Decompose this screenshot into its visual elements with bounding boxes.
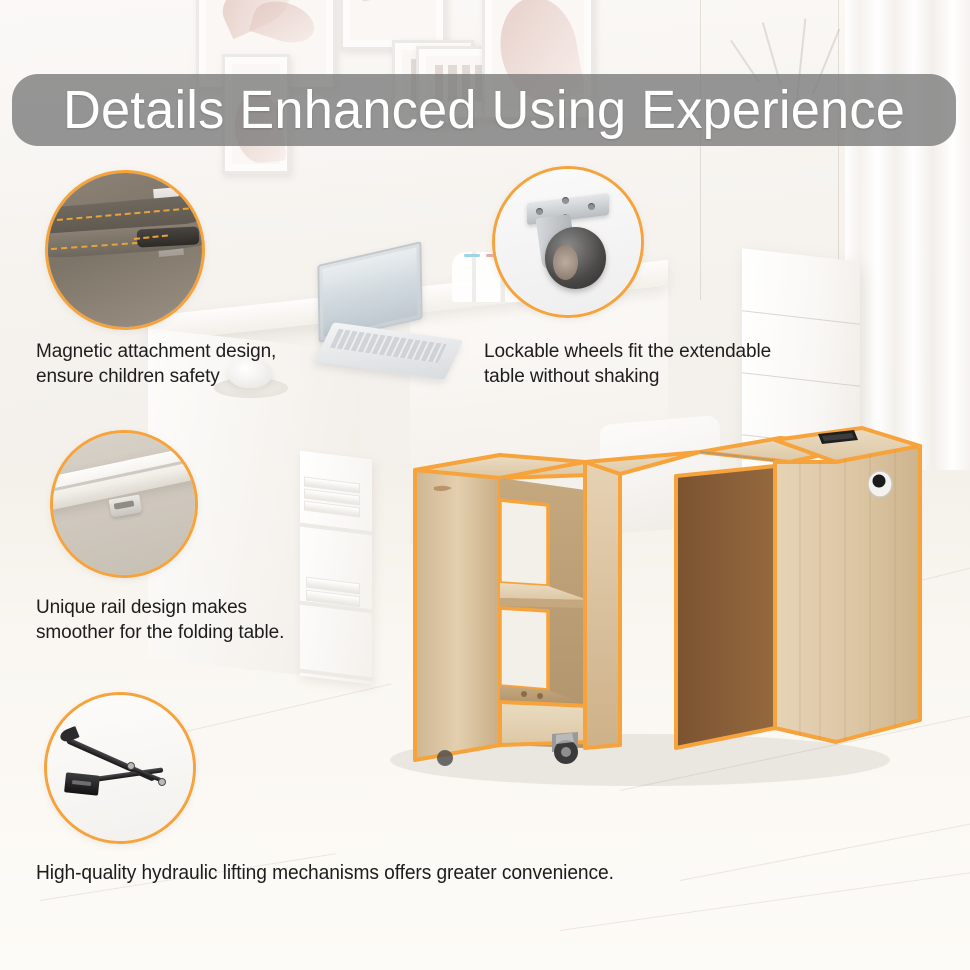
- product-feature-image: Details Enhanced Using Experience Magnet…: [0, 0, 970, 970]
- wheel-hub: [553, 245, 578, 280]
- leather-magnetic-flap-icon: [45, 170, 205, 330]
- bubble-background: [47, 695, 193, 841]
- feature-caption-hydraulic: High-quality hydraulic lifting mechanism…: [36, 860, 614, 886]
- feature-caption-wheels: Lockable wheels fit the extendable table…: [484, 340, 914, 389]
- hydraulic-lift-arm-icon: [44, 692, 196, 844]
- dresser-drawer-line: [742, 310, 860, 324]
- feature-caption-magnetic: Magnetic attachment design, ensure child…: [36, 340, 456, 389]
- cart-shelf: [300, 523, 372, 536]
- art-mat: [350, 0, 436, 40]
- page-title: Details Enhanced Using Experience: [63, 83, 905, 137]
- title-banner: Details Enhanced Using Experience: [12, 74, 956, 146]
- mounting-hole: [562, 197, 569, 204]
- bottle-tip: [464, 254, 480, 257]
- slide-rail-icon: [50, 430, 198, 578]
- dresser-drawer-line: [742, 434, 860, 448]
- feature-caption-rail: Unique rail design makes smoother for th…: [36, 596, 456, 645]
- wall-seam: [700, 0, 701, 300]
- caster-wheel-icon: [492, 166, 644, 318]
- hydraulic-damper-box: [64, 772, 100, 796]
